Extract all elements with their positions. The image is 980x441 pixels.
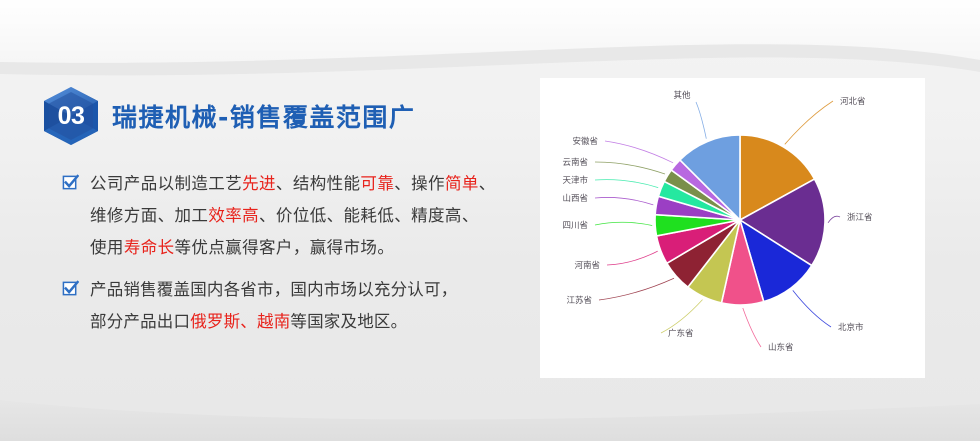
pie-leader-line — [828, 216, 840, 223]
pie-slice-label: 河北省 — [840, 96, 866, 107]
bullets-clip-region: 公司产品以制造工艺先进、结构性能可靠、操作简单、 维修方面、加工效率高、价位低、… — [0, 0, 540, 441]
pie-slice-label: 山西省 — [562, 193, 588, 204]
pie-leader-line — [743, 308, 761, 347]
pie-slice-label: 其他 — [673, 90, 691, 101]
pie-slice-label: 天津市 — [562, 175, 588, 186]
province-sales-pie-chart: 河北省浙江省北京市山东省广东省江苏省河南省四川省山西省天津市云南省安徽省其他 — [540, 78, 925, 378]
list-item-text: 产品销售覆盖国内各省市，国内市场以充分认可， 部分产品出口俄罗斯、越南等国家及地… — [90, 274, 457, 338]
pie-slice-label: 安徽省 — [572, 136, 598, 147]
sales-coverage-chart-panel: 河北省浙江省北京市山东省广东省江苏省河南省四川省山西省天津市云南省安徽省其他 — [540, 78, 925, 378]
pie-slice-label: 广东省 — [668, 328, 694, 339]
checkbox-checked-icon — [62, 280, 79, 297]
pie-slice-label: 四川省 — [562, 220, 588, 231]
bullet-1-line-3: 使用寿命长等优点赢得客户，赢得市场。 — [90, 232, 496, 264]
pie-leader-line — [599, 278, 674, 300]
list-item: 公司产品以制造工艺先进、结构性能可靠、操作简单、 维修方面、加工效率高、价位低、… — [62, 168, 532, 264]
pie-slices — [655, 135, 825, 305]
pie-slice-label: 北京市 — [838, 322, 864, 333]
pie-slice-label: 河南省 — [574, 260, 600, 271]
pie-leader-line — [605, 141, 673, 163]
pie-slice-label: 山东省 — [768, 342, 794, 353]
pie-leader-line — [696, 102, 706, 139]
pie-leader-line — [785, 101, 833, 144]
pie-leader-line — [595, 222, 652, 225]
pie-slice-label: 江苏省 — [566, 295, 592, 306]
pie-leader-line — [595, 197, 653, 204]
pie-leader-line — [661, 300, 703, 333]
pie-leader-line — [595, 180, 658, 188]
bullet-2-line-1: 产品销售覆盖国内各省市，国内市场以充分认可， — [90, 274, 457, 306]
pie-slice-label: 浙江省 — [847, 212, 873, 223]
bullet-1-line-2: 维修方面、加工效率高、价位低、能耗低、精度高、 — [90, 200, 496, 232]
checkbox-checked-icon — [62, 174, 79, 191]
pie-leader-line — [793, 290, 831, 327]
list-item: 产品销售覆盖国内各省市，国内市场以充分认可， 部分产品出口俄罗斯、越南等国家及地… — [62, 274, 532, 338]
list-item-text: 公司产品以制造工艺先进、结构性能可靠、操作简单、 维修方面、加工效率高、价位低、… — [90, 168, 496, 264]
pie-leader-line — [607, 251, 658, 265]
pie-slice-label: 云南省 — [562, 157, 588, 168]
bullet-2-line-2: 部分产品出口俄罗斯、越南等国家及地区。 — [90, 306, 457, 338]
bullet-1-line-1: 公司产品以制造工艺先进、结构性能可靠、操作简单、 — [90, 168, 496, 200]
feature-bullet-list: 公司产品以制造工艺先进、结构性能可靠、操作简单、 维修方面、加工效率高、价位低、… — [62, 168, 532, 348]
promo-banner: 03 瑞捷机械-销售覆盖范围广 公司产品以制造工艺先进、结构性能可靠、操作简单、… — [0, 0, 980, 441]
pie-leader-line — [595, 162, 665, 174]
